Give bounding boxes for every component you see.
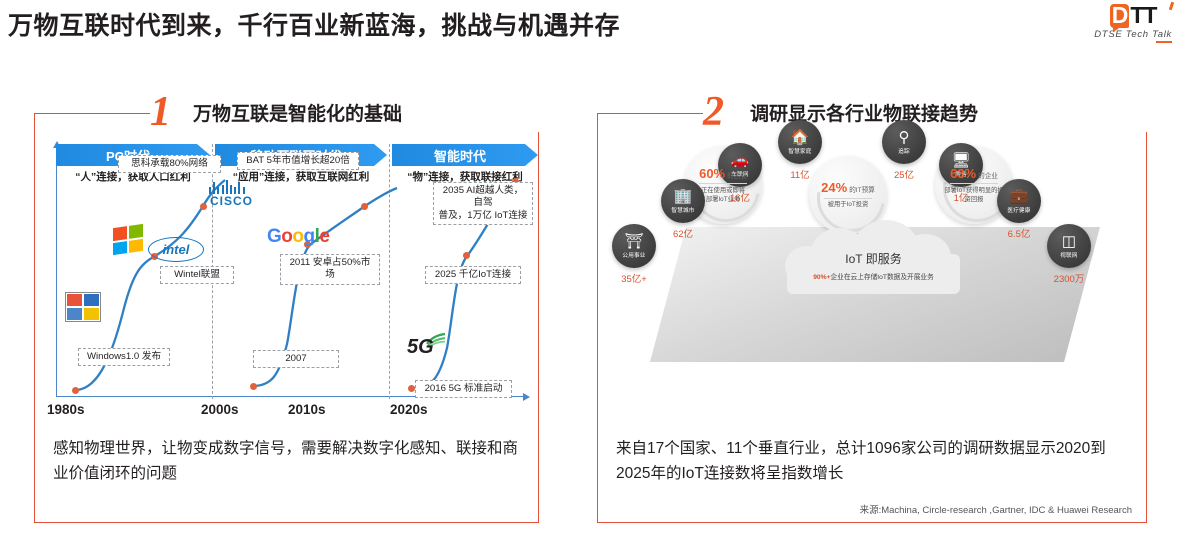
note-android-50: 2011 安卓占50%市场 xyxy=(280,254,380,285)
iot-node-video-network-label: 视联网 xyxy=(1060,251,1077,259)
note-2007: 2007 xyxy=(253,350,339,368)
stat-ring-1-description: 被用于IoT投资 xyxy=(817,201,879,210)
iot-node-healthcare-value: 6.5亿 xyxy=(997,226,1041,240)
milestone-dot-2007 xyxy=(250,383,257,390)
video-network-icon: ◫ xyxy=(1062,234,1076,249)
note-bat-growth: BAT 5年市值增长超20倍 xyxy=(237,152,359,170)
logo-wordmark: DTT xyxy=(1094,4,1172,28)
timeline-chart: PC时代 “人”连接，获取人口红利 移动互联网时代 “应用”连接，获取互联网红利… xyxy=(35,144,540,419)
iot-node-video-network-value: 2300万 xyxy=(1047,271,1091,285)
smart-city-icon: 🏢 xyxy=(674,189,693,204)
milestone-dot-windows10 xyxy=(72,387,79,394)
fiveg-logo: 5G xyxy=(407,336,434,359)
iot-node-video-network[interactable]: ◫ 视联网 2300万 xyxy=(1047,224,1091,285)
milestone-dot-2025 xyxy=(463,252,470,259)
cisco-bars-icon xyxy=(209,180,249,194)
iot-node-utility-circle[interactable]: ⛩ 公用事业 xyxy=(612,224,656,268)
stat-ring-2-percent: 63% xyxy=(950,166,976,181)
iot-node-tracking[interactable]: ⚲ 追踪 25亿 xyxy=(882,120,926,181)
stat-ring-2-divider xyxy=(950,183,998,184)
panel-right-caption: 来自17个国家、11个垂直行业，总计1096家公司的调研数据显示2020到202… xyxy=(616,436,1131,486)
note-5g-standard: 2016 5G 标准启动 xyxy=(415,380,512,398)
x-tick-1980s: 1980s xyxy=(47,402,85,417)
stat-ring-2-headline: 63% 的企业 xyxy=(950,166,998,181)
cloud-subtitle-highlight: 90%+ xyxy=(813,274,830,281)
stat-ring-1-headline: 24% 的IT预算 xyxy=(821,180,875,195)
panel-left-caption: 感知物理世界，让物变成数字信号，需要解决数字化感知、联接和商业价值闭环的问题 xyxy=(53,436,523,486)
stat-ring-1-unit: 的IT预算 xyxy=(849,184,875,194)
tracking-icon: ⚲ xyxy=(899,130,910,145)
panel-right-source: 来源:Machina, Circle-research ,Gartner, ID… xyxy=(860,502,1132,516)
panel-everything-connected: 1 万物互联是智能化的基础 PC时代 “人”连接，获取人口红利 移动互联网时代 … xyxy=(34,113,539,523)
panel-left-title: 万物互联是智能化的基础 xyxy=(193,99,402,126)
note-cisco-80: 思科承载80%网络 xyxy=(118,155,221,173)
stat-ring-2-description: 部署IoT获得明显的投 资回报 xyxy=(943,187,1005,205)
iot-node-tracking-value: 25亿 xyxy=(882,167,926,181)
iot-node-video-network-circle[interactable]: ◫ 视联网 xyxy=(1047,224,1091,268)
iot-as-a-service-cloud: IoT 即服务 90%+企业在云上存储IoT数据及开展业务 xyxy=(781,220,966,298)
cloud-subtitle-rest: 企业在云上存储IoT数据及开展业务 xyxy=(831,274,934,281)
iot-node-tracking-circle[interactable]: ⚲ 追踪 xyxy=(882,120,926,164)
healthcare-icon: 💼 xyxy=(1010,189,1029,204)
iot-node-smart-home-circle[interactable]: 🏠 智慧家庭 xyxy=(778,120,822,164)
logo-tt: TT xyxy=(1130,2,1156,28)
cloud-title: IoT 即服务 xyxy=(781,250,966,267)
note-2035-ai: 2035 AI超越人类，自驾 普及，1万亿 IoT连接 xyxy=(433,182,533,225)
chart-x-tick-labels: 1980s 2000s 2010s 2020s xyxy=(35,402,540,424)
google-logo: Google xyxy=(267,226,329,248)
cloud-text-block: IoT 即服务 90%+企业在云上存储IoT数据及开展业务 xyxy=(781,250,966,281)
stat-ring-2-unit: 的企业 xyxy=(978,170,998,180)
iot-infographic: 60% 的企业 正在使用或即将 部署IoT业务 24% 的IT预算 被用于IoT… xyxy=(598,142,1148,427)
iot-node-tracking-label: 追踪 xyxy=(898,147,910,155)
note-windows10: Windows1.0 发布 xyxy=(78,348,170,366)
intel-logo: intel xyxy=(148,237,204,262)
iot-node-smart-home-value: 11亿 xyxy=(778,167,822,181)
stat-ring-0-headline: 60% 的企业 xyxy=(699,166,747,181)
stat-ring-1-divider xyxy=(824,198,872,199)
note-wintel: Wintel联盟 xyxy=(160,266,234,284)
milestone-dot-bat xyxy=(361,203,368,210)
utility-icon: ⛩ xyxy=(624,234,643,249)
milestone-dot-5g xyxy=(408,385,415,392)
logo-d-badge: D xyxy=(1110,4,1130,28)
panel-right-header: 2 调研显示各行业物联接趋势 xyxy=(703,92,1180,132)
logo-underline xyxy=(1156,41,1172,43)
note-2025-iot: 2025 千亿IoT连接 xyxy=(425,266,521,284)
smart-home-icon: 🏠 xyxy=(791,130,810,145)
page-title: 万物互联时代到来，千行百业新蓝海，挑战与机遇并存 xyxy=(8,6,620,42)
logo-tick-icon xyxy=(1169,2,1174,11)
stat-ring-0-divider xyxy=(699,183,747,184)
brand-logo: DTT DTSE Tech Talk xyxy=(1094,4,1172,43)
cloud-subtitle: 90%+企业在云上存储IoT数据及开展业务 xyxy=(781,271,966,281)
iot-node-healthcare-label: 医疗健康 xyxy=(1007,206,1030,214)
iot-node-utility[interactable]: ⛩ 公用事业 35亿+ xyxy=(612,224,656,285)
windows-retro-logo-icon xyxy=(65,292,101,322)
stat-ring-0-unit: 的企业 xyxy=(727,170,747,180)
windows-logo-icon xyxy=(113,224,143,255)
stat-ring-0-percent: 60% xyxy=(699,166,725,181)
x-tick-2020s: 2020s xyxy=(390,402,428,417)
stat-ring-0-description: 正在使用或即将 部署IoT业务 xyxy=(692,187,754,205)
cisco-logo: CISCO xyxy=(210,194,253,208)
x-tick-2010s: 2010s xyxy=(288,402,326,417)
panel-industry-survey: 2 调研显示各行业物联接趋势 60% 的企业 正在使用或即将 部署IoT业务 2… xyxy=(597,113,1147,523)
panel-left-number: 1 xyxy=(150,91,171,133)
panel-left-header: 1 万物互联是智能化的基础 xyxy=(150,92,653,132)
iot-node-utility-label: 公用事业 xyxy=(622,251,645,259)
iot-node-utility-value: 35亿+ xyxy=(612,271,656,285)
milestone-dot-cisco xyxy=(200,203,207,210)
iot-node-smart-home-label: 智慧家庭 xyxy=(788,147,811,155)
logo-subtitle: DTSE Tech Talk xyxy=(1094,29,1172,40)
panel-right-number: 2 xyxy=(703,91,724,133)
iot-node-smart-city-label: 智慧城市 xyxy=(671,206,694,214)
stat-ring-1-percent: 24% xyxy=(821,180,847,195)
iot-node-smart-home[interactable]: 🏠 智慧家庭 11亿 xyxy=(778,120,822,181)
x-tick-2000s: 2000s xyxy=(201,402,239,417)
iot-node-smart-city-value: 62亿 xyxy=(661,226,705,240)
